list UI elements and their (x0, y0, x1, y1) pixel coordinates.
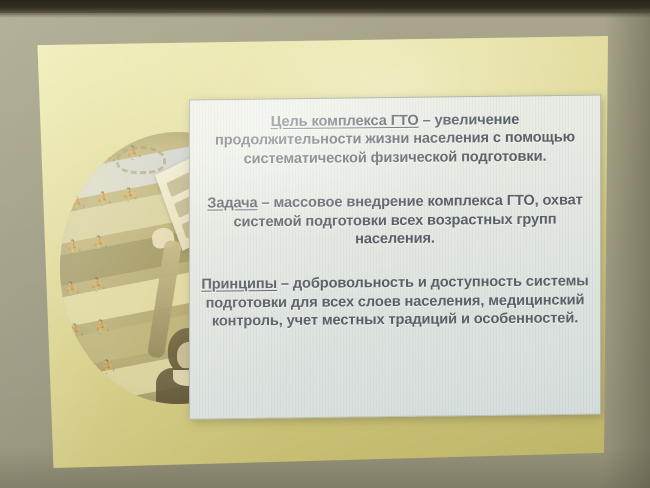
laurel-wreath-emblem (116, 146, 166, 174)
paragraph-goal: Цель комплекса ГТО – увеличение продолжи… (200, 110, 590, 169)
paragraph-goal-heading: Цель комплекса ГТО (271, 113, 419, 130)
screen-top-edge (0, 0, 650, 13)
paragraph-principles-heading: Принципы (201, 276, 277, 293)
paragraph-task-heading: Задача (207, 195, 257, 211)
slide-text-box: Цель комплекса ГТО – увеличение продолжи… (189, 94, 601, 419)
paragraph-task-body: – массовое внедрение комплекса ГТО, охва… (234, 192, 583, 247)
paragraph-principles: Принципы – добровольность и доступность … (200, 273, 590, 332)
screen-right-shadow (604, 10, 650, 488)
presentation-slide: ⛹ ⛹ ⛹ ⛹ ⛹ ⛹ ⛹ ⛹ ⛹ ⛹ ⛹ ⛹ ⛹ ⛹ ⛹ ⛹ ⛹ ⛹ ⛹ ⛹ (34, 36, 608, 468)
projected-slide-photo: ⛹ ⛹ ⛹ ⛹ ⛹ ⛹ ⛹ ⛹ ⛹ ⛹ ⛹ ⛹ ⛹ ⛹ ⛹ ⛹ ⛹ ⛹ ⛹ ⛹ (0, 0, 650, 488)
paragraph-task: Задача – массовое внедрение комплекса ГТ… (200, 191, 590, 250)
